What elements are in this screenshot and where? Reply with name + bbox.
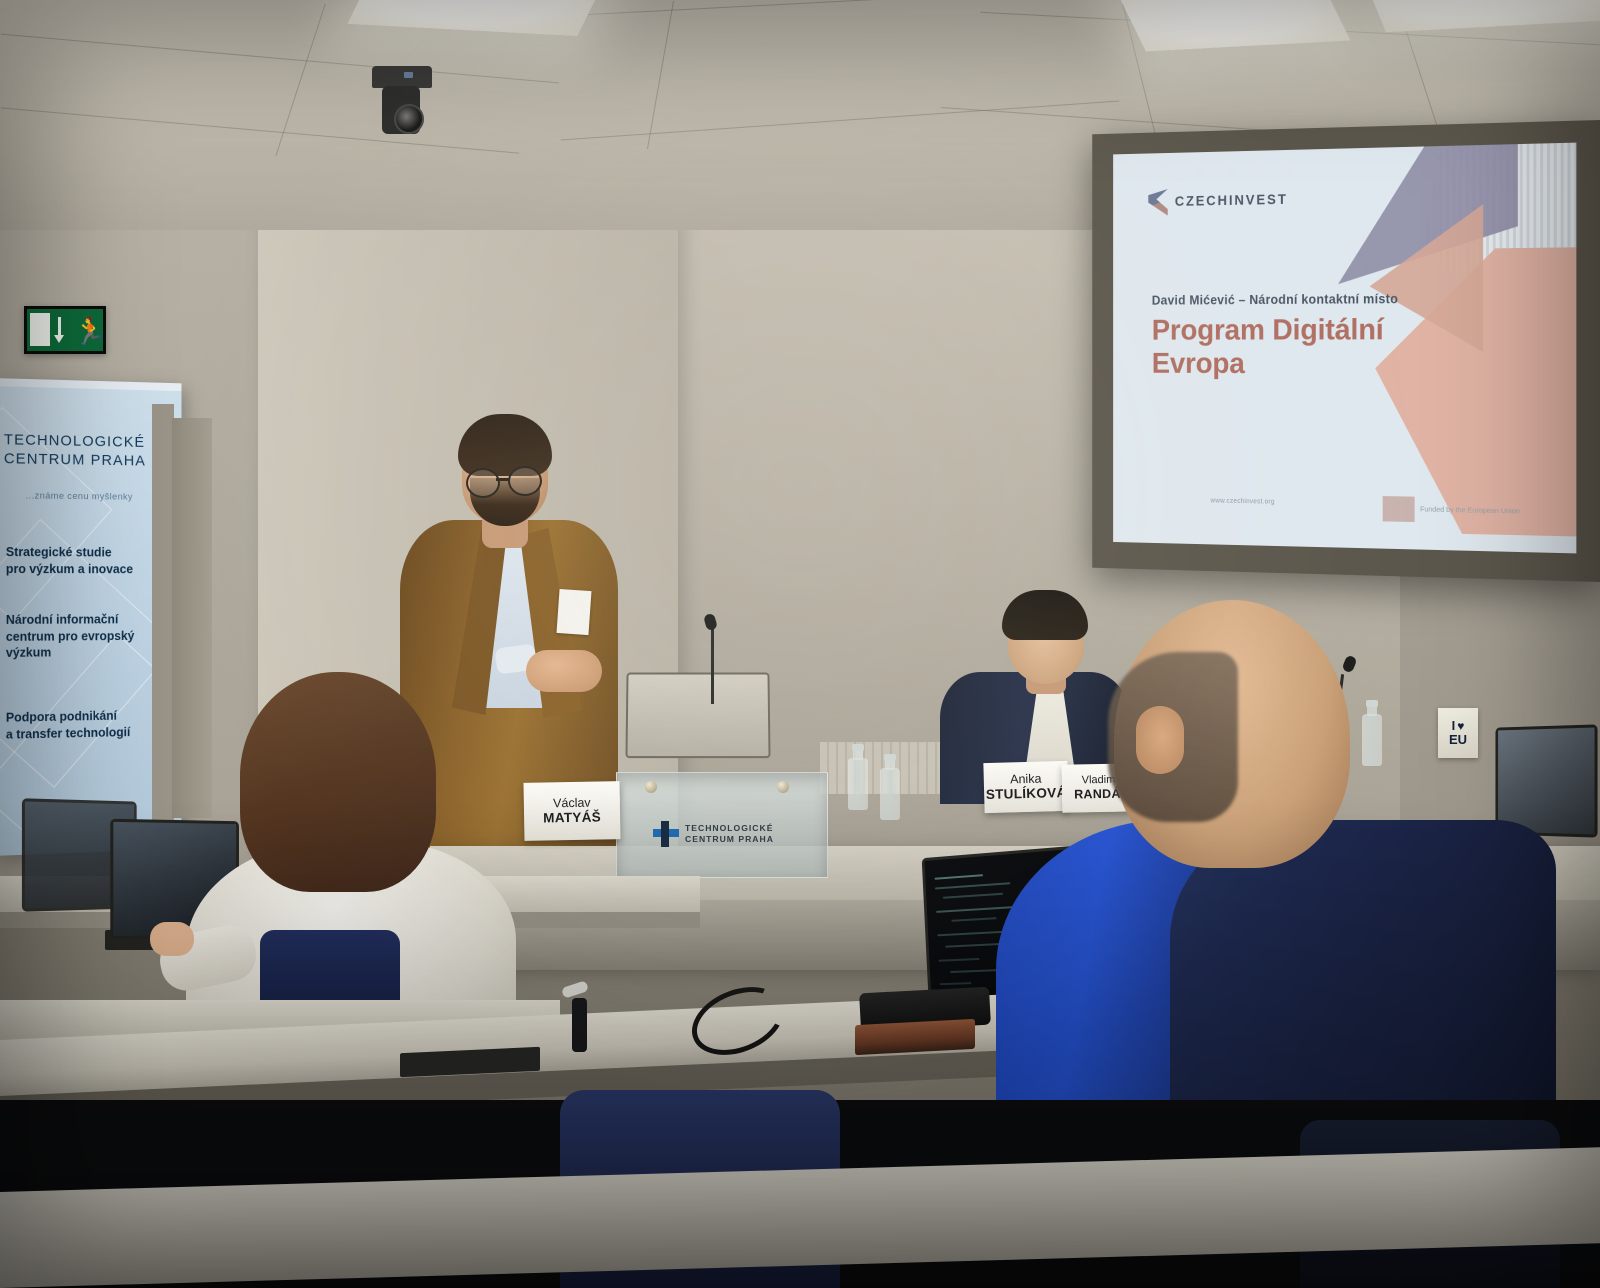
- eu-flag-icon: [1382, 496, 1414, 522]
- woman-hand: [150, 922, 194, 956]
- nameplate-matyas: Václav MATYÁŠ: [524, 781, 621, 841]
- eu-funding-caption: Funded by the European Union: [1420, 504, 1520, 516]
- slide-kicker-text: David Mićević – Národní kontaktní místo: [1152, 291, 1398, 307]
- slide-title: Program Digitální Evropa: [1152, 313, 1426, 381]
- glass-podium: TECHNOLOGICKÉ CENTRUM PRAHA: [616, 772, 828, 878]
- speaker-glasses-right: [508, 466, 542, 496]
- microphone-foreground: [560, 980, 600, 1050]
- eu-sign-eu: EU: [1449, 733, 1467, 747]
- slide-url-text: www.czechinvest.org: [1211, 498, 1275, 506]
- water-bottle-4: [1362, 714, 1382, 766]
- speaker-glasses-bridge: [496, 478, 510, 481]
- presenter-laptop: [625, 673, 770, 759]
- banner-item-2: Podpora podnikání a transfer technologií: [6, 707, 168, 743]
- projection-screen: CZECHINVEST David Mićević – Národní kont…: [1092, 120, 1600, 582]
- nameplate-first-name: Anika: [1010, 771, 1042, 786]
- emergency-exit-icon: 🏃: [24, 306, 106, 354]
- banner-tagline: ...známe cenu myšlenky: [26, 490, 133, 502]
- ptz-camera-icon: [366, 66, 438, 142]
- door-jamb: [152, 404, 174, 824]
- water-bottle-1: [848, 758, 868, 810]
- nameplate-first-name: Václav: [553, 795, 591, 810]
- water-bottle-2: [880, 768, 900, 820]
- czechinvest-wordmark: CZECHINVEST: [1175, 192, 1288, 209]
- tc-logo-line2: CENTRUM PRAHA: [685, 834, 774, 844]
- tc-praha-logo-text: TECHNOLOGICKÉ CENTRUM PRAHA: [685, 823, 774, 845]
- nameplate-last-name: STULÍKOVÁ: [986, 785, 1067, 803]
- eu-funding-badge: Funded by the European Union: [1382, 496, 1519, 524]
- nameplate-last-name: MATYÁŠ: [543, 810, 601, 827]
- speaker-name-badge: [557, 589, 592, 635]
- microphone-left: [700, 604, 724, 704]
- banner-item-1: Národní informační centrum pro evropský …: [6, 611, 168, 661]
- czechinvest-logo: CZECHINVEST: [1148, 187, 1288, 216]
- woman-hair: [240, 672, 436, 892]
- tc-logo-line1: TECHNOLOGICKÉ: [685, 823, 773, 833]
- speaker-hands: [526, 650, 602, 692]
- heart-icon: ♥: [1457, 720, 1464, 733]
- czechinvest-mark-icon: [1148, 189, 1167, 216]
- conference-room-photo: 🏃 CZECHINVEST David Mićević – Národní ko…: [0, 0, 1600, 1288]
- room-door: [172, 418, 212, 818]
- wooden-block: [855, 1019, 975, 1055]
- eu-sign-i: I: [1452, 719, 1456, 733]
- presentation-slide: CZECHINVEST David Mićević – Národní kont…: [1113, 143, 1576, 554]
- i-love-eu-sign: I ♥ EU: [1438, 708, 1478, 758]
- banner-title: TECHNOLOGICKÉ CENTRUM PRAHA: [4, 430, 159, 471]
- tc-praha-logo: TECHNOLOGICKÉ CENTRUM PRAHA: [653, 821, 774, 847]
- speaker-glasses-left: [466, 468, 500, 498]
- audience-man-ear: [1136, 706, 1184, 774]
- tc-praha-mark-icon: [653, 821, 679, 847]
- banner-item-0: Strategické studie pro výzkum a inovace: [6, 544, 168, 577]
- nameplate-stulikova: Anika STULÍKOVÁ: [983, 761, 1068, 813]
